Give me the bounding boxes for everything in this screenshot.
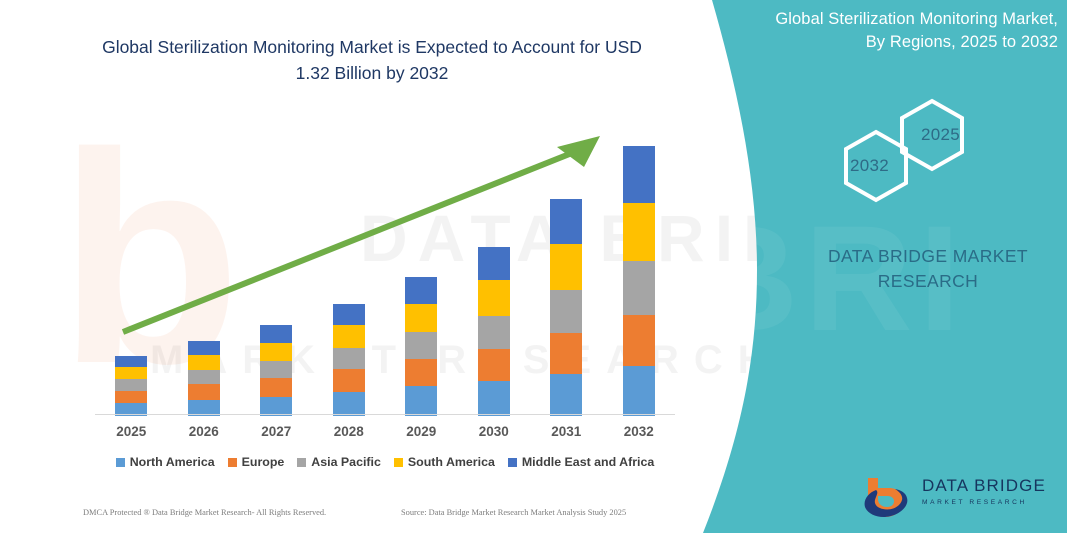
logo-sub: MARKET RESEARCH bbox=[922, 499, 1046, 506]
hex-label-end-year: 2032 bbox=[850, 156, 889, 176]
logo-mark-icon bbox=[862, 474, 918, 520]
hexagon-years: 2025 2032 bbox=[818, 93, 1018, 208]
panel-brand-text: DATA BRIDGE MARKET RESEARCH bbox=[790, 244, 1066, 295]
logo-name: DATA BRIDGE bbox=[922, 477, 1046, 496]
logo-text-block: DATA BRIDGE MARKET RESEARCH bbox=[922, 477, 1046, 506]
panel-title: Global Sterilization Monitoring Market, … bbox=[768, 8, 1058, 55]
infographic-slide: b DATA BRIDGE MARKET RESEARCH Global Ste… bbox=[0, 0, 1067, 533]
hex-label-start-year: 2025 bbox=[921, 125, 960, 145]
data-bridge-logo: DATA BRIDGE MARKET RESEARCH bbox=[862, 474, 1052, 520]
